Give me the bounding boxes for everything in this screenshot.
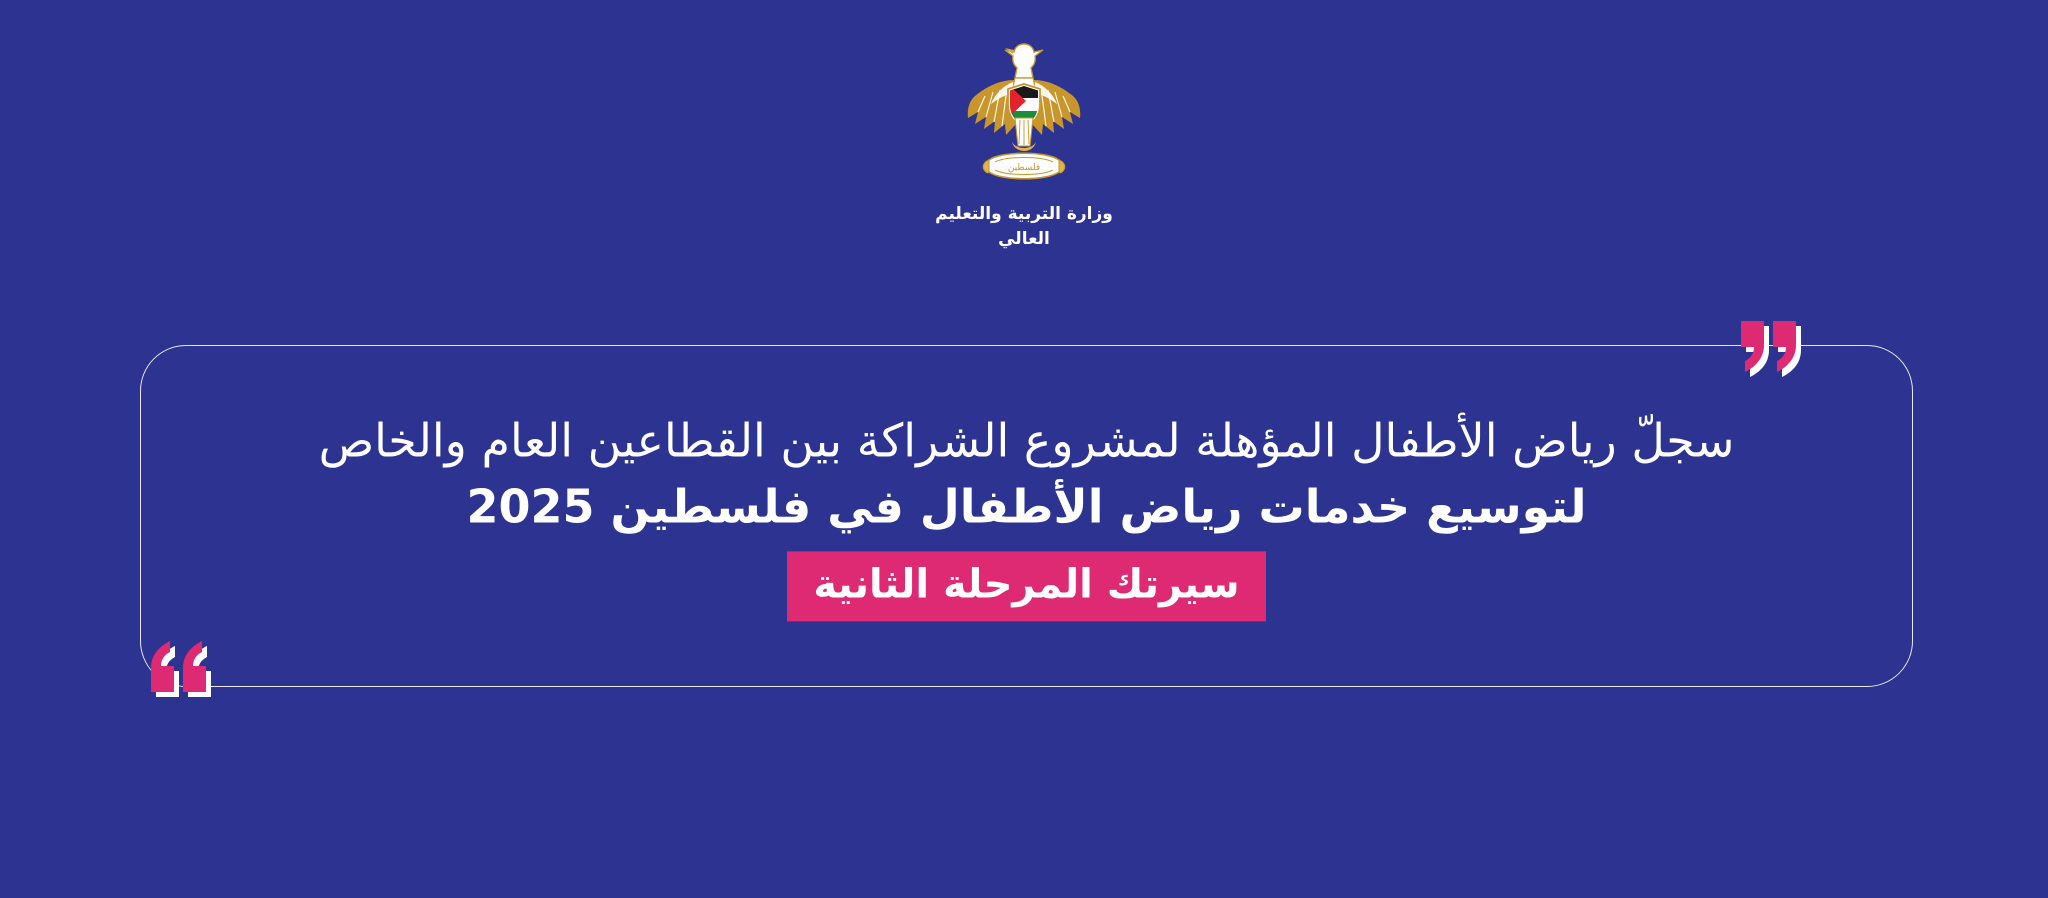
headline-line-1: سجلّ رياض الأطفال المؤهلة لمشروع الشراكة… — [211, 410, 1842, 472]
emblem-scroll-text: فلسطين — [1008, 163, 1040, 173]
ministry-name-line-2: العالي — [894, 227, 1154, 252]
ministry-identity-block: فلسطين وزارة التربية والتعليم العالي — [0, 38, 2048, 251]
ministry-name-line-1: وزارة التربية والتعليم — [894, 202, 1154, 227]
headline-line-2: لتوسيع خدمات رياض الأطفال في فلسطين 2025 — [211, 476, 1842, 538]
announcement-card: سجلّ رياض الأطفال المؤهلة لمشروع الشراكة… — [140, 345, 1913, 687]
badge-row: سيرتك المرحلة الثانية — [211, 552, 1842, 622]
quote-close-icon — [1738, 318, 1812, 392]
announcement-text-block: سجلّ رياض الأطفال المؤهلة لمشروع الشراكة… — [141, 410, 1912, 621]
palestine-coat-of-arms-eagle-icon: فلسطين — [965, 38, 1083, 190]
ministry-name: وزارة التربية والتعليم العالي — [894, 202, 1154, 251]
status-badge: سيرتك المرحلة الثانية — [787, 552, 1265, 622]
quote-open-icon — [148, 638, 222, 712]
